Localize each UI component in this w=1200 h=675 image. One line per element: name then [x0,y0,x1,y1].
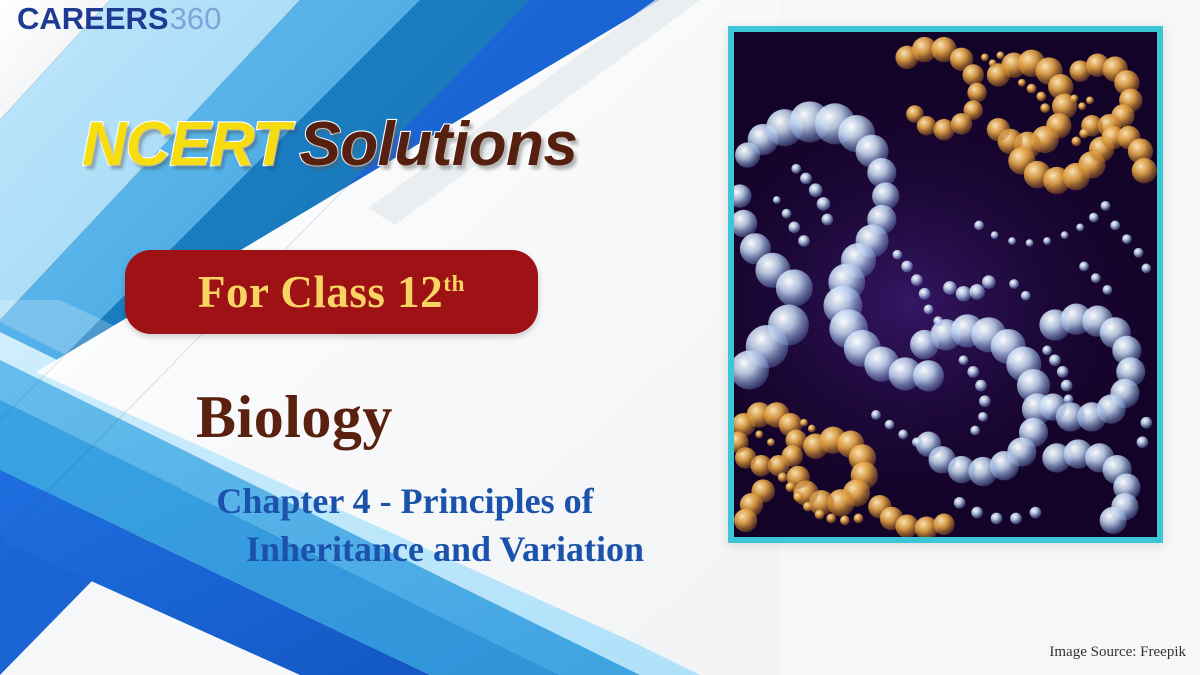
chapter-title: Chapter 4 - Principles of Inheritance an… [70,478,740,573]
class-badge-prefix: For Class 12 [198,267,443,317]
slide-canvas: CAREERS 360 NCERTSolutions For Class 12t… [0,0,1200,675]
cover-image-frame [728,26,1163,543]
logo-careers-text: CAREERS [17,1,169,37]
chapter-title-line-2: Inheritance and Variation [70,526,740,574]
careers360-logo[interactable]: CAREERS 360 [17,1,221,37]
image-source-credit: Image Source: Freepik [1049,644,1186,661]
dna-illustration [734,32,1157,537]
chapter-title-line-1: Chapter 4 - Principles of [70,478,740,526]
title-word-ncert: NCERT [82,110,289,179]
decorative-chevron-ribbons [0,0,780,675]
logo-360-text: 360 [170,1,222,37]
title-word-solutions: Solutions [299,110,577,179]
class-badge-ordinal-suffix: th [443,271,465,297]
class-badge-label: For Class 12th [198,270,465,315]
subject-title: Biology [196,387,393,447]
page-title: NCERTSolutions [82,114,577,176]
class-badge: For Class 12th [125,250,538,334]
